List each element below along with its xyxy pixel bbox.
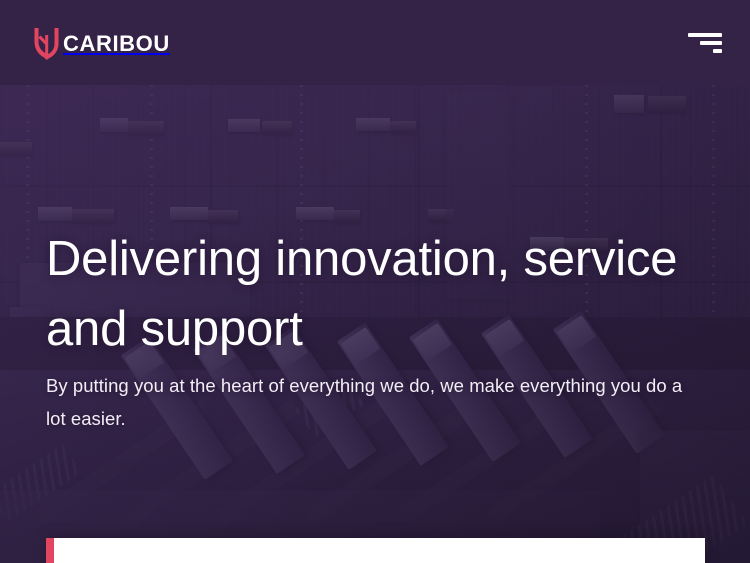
hero-section: Delivering innovation, service and suppo… [0, 85, 750, 563]
hero-headline: Delivering innovation, service and suppo… [46, 225, 726, 364]
hero-subheading: By putting you at the heart of everythin… [46, 370, 706, 436]
page-root: CARIBOU [0, 0, 750, 563]
card-accent-bar [46, 538, 54, 563]
menu-bar-middle [700, 41, 722, 45]
content-card[interactable] [46, 538, 705, 563]
site-header: CARIBOU [0, 0, 750, 85]
caribou-antler-mark-icon [32, 26, 62, 60]
hero-content: Delivering innovation, service and suppo… [0, 85, 750, 563]
card-body [54, 538, 705, 563]
brand-logo-link[interactable]: CARIBOU [32, 26, 170, 60]
hamburger-menu-icon[interactable] [686, 30, 722, 56]
menu-bar-bottom [713, 49, 722, 53]
menu-bar-top [688, 33, 722, 37]
brand-wordmark: CARIBOU [63, 33, 170, 55]
